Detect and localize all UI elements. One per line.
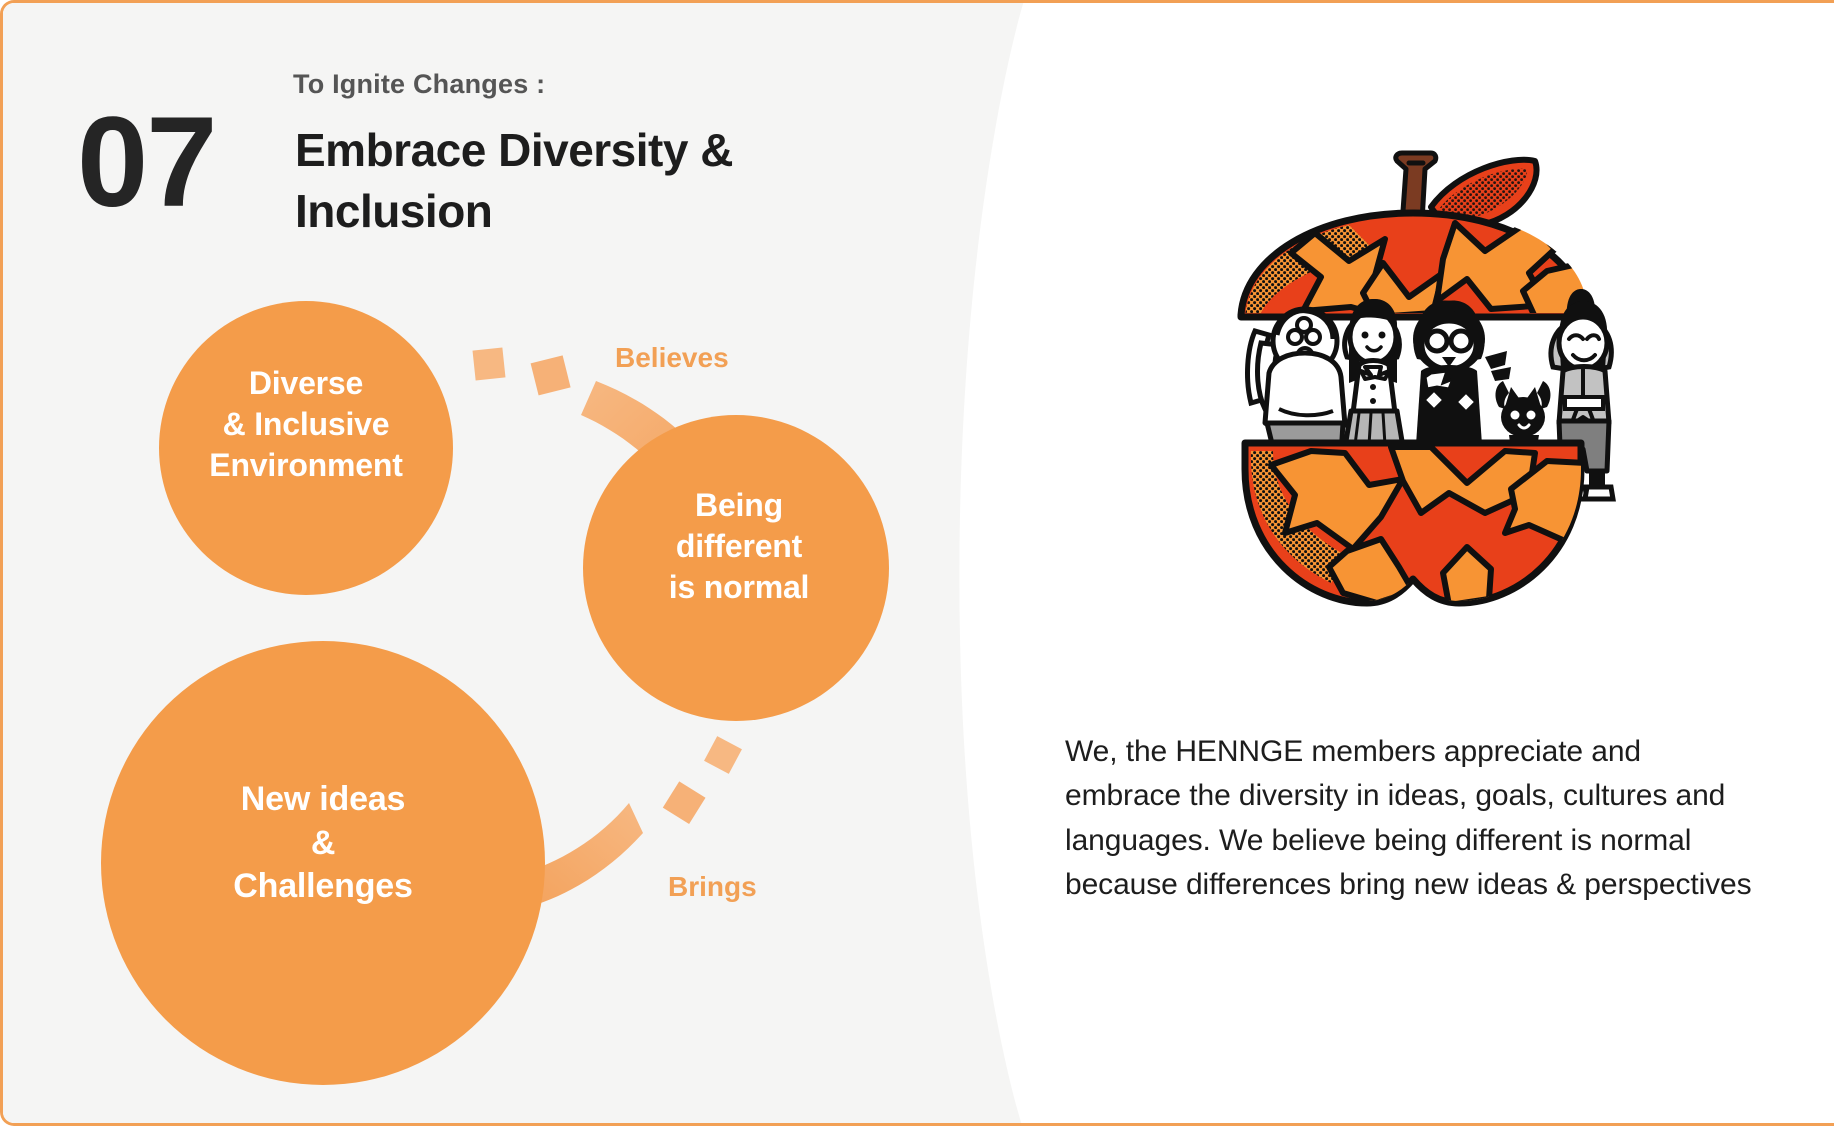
connector-label-brings: Brings <box>668 871 757 903</box>
slide-root: To Ignite Changes : 07 Embrace Diversity… <box>0 0 1834 1126</box>
circle-label-being-different-is-normal: Being different is normal <box>589 485 889 608</box>
circle-label-diverse-inclusive-environment: Diverse & Inclusive Environment <box>160 363 452 486</box>
section-number: 07 <box>77 99 215 227</box>
apple-split-with-people-illustration <box>1199 121 1627 633</box>
eyebrow-text: To Ignite Changes : <box>293 69 545 100</box>
body-paragraph: We, the HENNGE members appreciate and em… <box>1065 730 1765 908</box>
page-title: Embrace Diversity & Inclusion <box>295 120 895 242</box>
apple-bottom-half <box>1245 443 1589 605</box>
circle-label-new-ideas-challenges: New ideas & Challenges <box>103 778 543 909</box>
apple-top-half <box>1241 213 1595 317</box>
connector-label-believes: Believes <box>615 342 729 374</box>
